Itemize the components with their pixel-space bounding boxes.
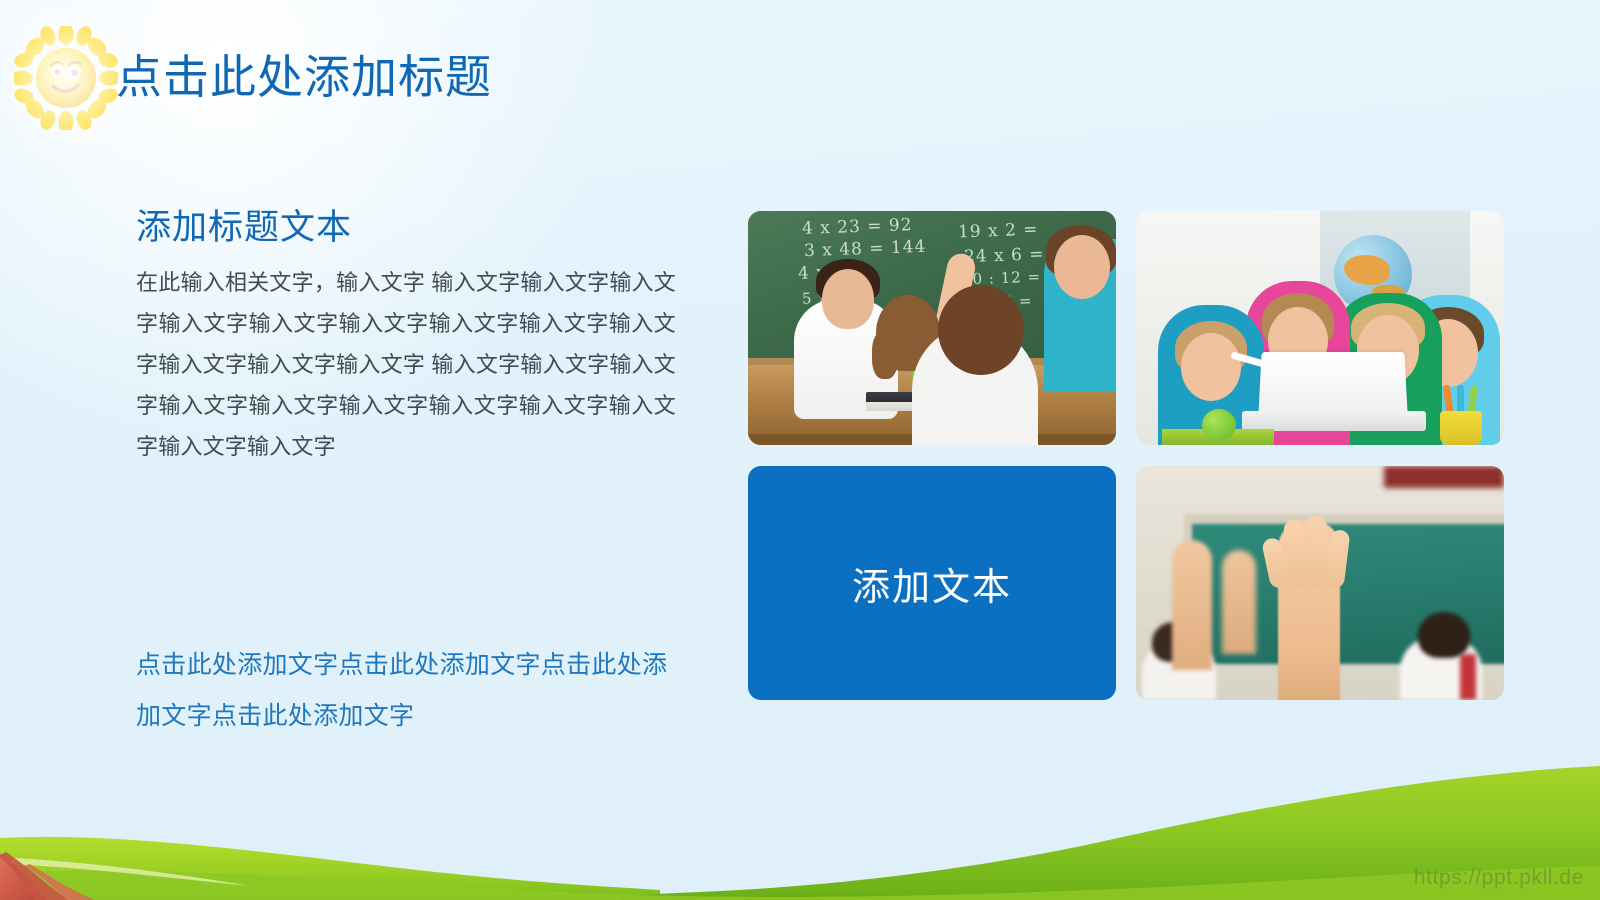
pencil-cup (1440, 411, 1482, 445)
raised-hand-background-2 (1222, 550, 1256, 654)
section-heading: 添加标题文本 (136, 208, 676, 248)
body-paragraph: 在此输入相关文字，输入文字 输入文字输入文字输入文字输入文字输入文字输入文字输入… (136, 262, 676, 467)
wall-stripe (1384, 466, 1504, 488)
text-panel[interactable]: 添加文本 (748, 466, 1116, 700)
student-right-head (1418, 612, 1470, 658)
media-grid: 4 x 23 = 92 3 x 48 = 144 4 x 6 5 x 7 5 x… (748, 211, 1504, 700)
watermark-url: https://ppt.pkll.de (1414, 866, 1584, 890)
footnote-text: 点击此处添加文字点击此处添加文字点击此处添加文字点击此处添加文字 (136, 640, 671, 742)
slide-canvas: 点击此处添加标题 添加标题文本 在此输入相关文字，输入文字 输入文字输入文字输入… (0, 0, 1600, 900)
slide-header: 点击此处添加标题 (0, 0, 1600, 160)
chalk-line: 4 x 23 = 92 (802, 215, 913, 239)
laptop-base (1242, 411, 1426, 431)
grass-hills-svg (0, 740, 1600, 900)
hand-fingers (1266, 512, 1352, 588)
photo-raised-hands[interactable] (1136, 466, 1504, 700)
photo-teacher-classroom[interactable]: 4 x 23 = 92 3 x 48 = 144 4 x 6 5 x 7 5 x… (748, 211, 1116, 445)
green-apple (1202, 409, 1236, 441)
chalk-line: 19 x 2 = (958, 220, 1039, 243)
teacher-head (822, 269, 874, 329)
sun-smiling-icon (14, 26, 118, 130)
left-text-column: 添加标题文本 在此输入相关文字，输入文字 输入文字输入文字输入文字输入文字输入文… (136, 208, 676, 467)
raised-hand-background-1 (1172, 540, 1212, 670)
student-right-head (1054, 235, 1110, 299)
text-panel-label: 添加文本 (852, 556, 1012, 611)
landscape-decoration: https://ppt.pkll.de (0, 740, 1600, 900)
student-back-head (938, 285, 1024, 375)
finger (1307, 516, 1326, 588)
student-right-collar (1460, 654, 1476, 700)
finger (1325, 529, 1351, 589)
kid-head (1181, 333, 1241, 401)
chalk-line: 3 x 48 = 144 (804, 237, 927, 261)
page-title: 点击此处添加标题 (116, 52, 492, 103)
laptop-screen (1258, 352, 1407, 415)
photo-kids-laptop[interactable] (1136, 211, 1504, 445)
